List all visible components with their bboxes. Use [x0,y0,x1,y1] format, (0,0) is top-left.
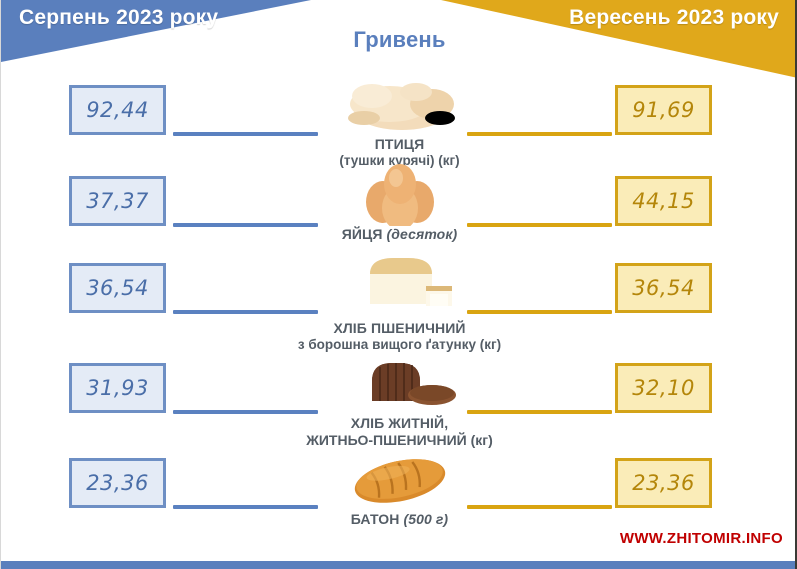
left-value-box: 31,93 [69,363,166,413]
table-row: 92,44 91,69 ПТИЦЯ [1,74,797,168]
row-caption: ХЛІБ ПШЕНИЧНИЙ [235,320,565,337]
price-rows: 92,44 91,69 ПТИЦЯ [1,74,797,547]
rye-bread-icon [320,349,480,415]
row-caption: ХЛІБ ЖИТНІЙ, [235,415,565,432]
right-value-box: 23,36 [615,458,712,508]
table-row: 37,37 44,15 ЯЙЦЯ (десяток) [1,168,797,254]
table-row: 36,54 36,54 ХЛІБ ПШЕНИЧНИЙ [1,254,797,357]
left-value-box: 23,36 [69,458,166,508]
left-value-box: 92,44 [69,85,166,135]
right-value-box: 91,69 [615,85,712,135]
right-value-box: 32,10 [615,363,712,413]
row-name: ХЛІБ ЖИТНІЙ, [351,415,448,431]
row-unit: (десяток) [387,226,458,242]
row-caption: БАТОН (500 г) [235,511,565,528]
row-unit: (500 г) [403,511,448,527]
right-value-box: 36,54 [615,263,712,313]
left-value-box: 36,54 [69,263,166,313]
eggs-icon [320,164,480,226]
table-row: 31,93 32,10 [1,357,797,457]
row-name: ПТИЦЯ [375,136,424,152]
row-caption: ПТИЦЯ [235,136,565,153]
row-caption: ЯЙЦЯ (десяток) [235,226,565,243]
infographic-slide: Серпень 2023 року Вересень 2023 року Гри… [0,0,797,569]
bottom-accent-bar [1,561,797,569]
white-bread-loaf-icon [320,248,480,320]
row-name: ХЛІБ ПШЕНИЧНИЙ [333,320,465,336]
chicken-carcass-icon [320,74,480,136]
left-value-box: 37,37 [69,176,166,226]
baton-loaf-icon [320,445,480,511]
right-value-box: 44,15 [615,176,712,226]
currency-title: Гривень [1,27,797,53]
row-name: БАТОН [351,511,400,527]
site-watermark: WWW.ZHITOMIR.INFO [620,530,783,547]
row-name: ЯЙЦЯ [342,226,383,242]
